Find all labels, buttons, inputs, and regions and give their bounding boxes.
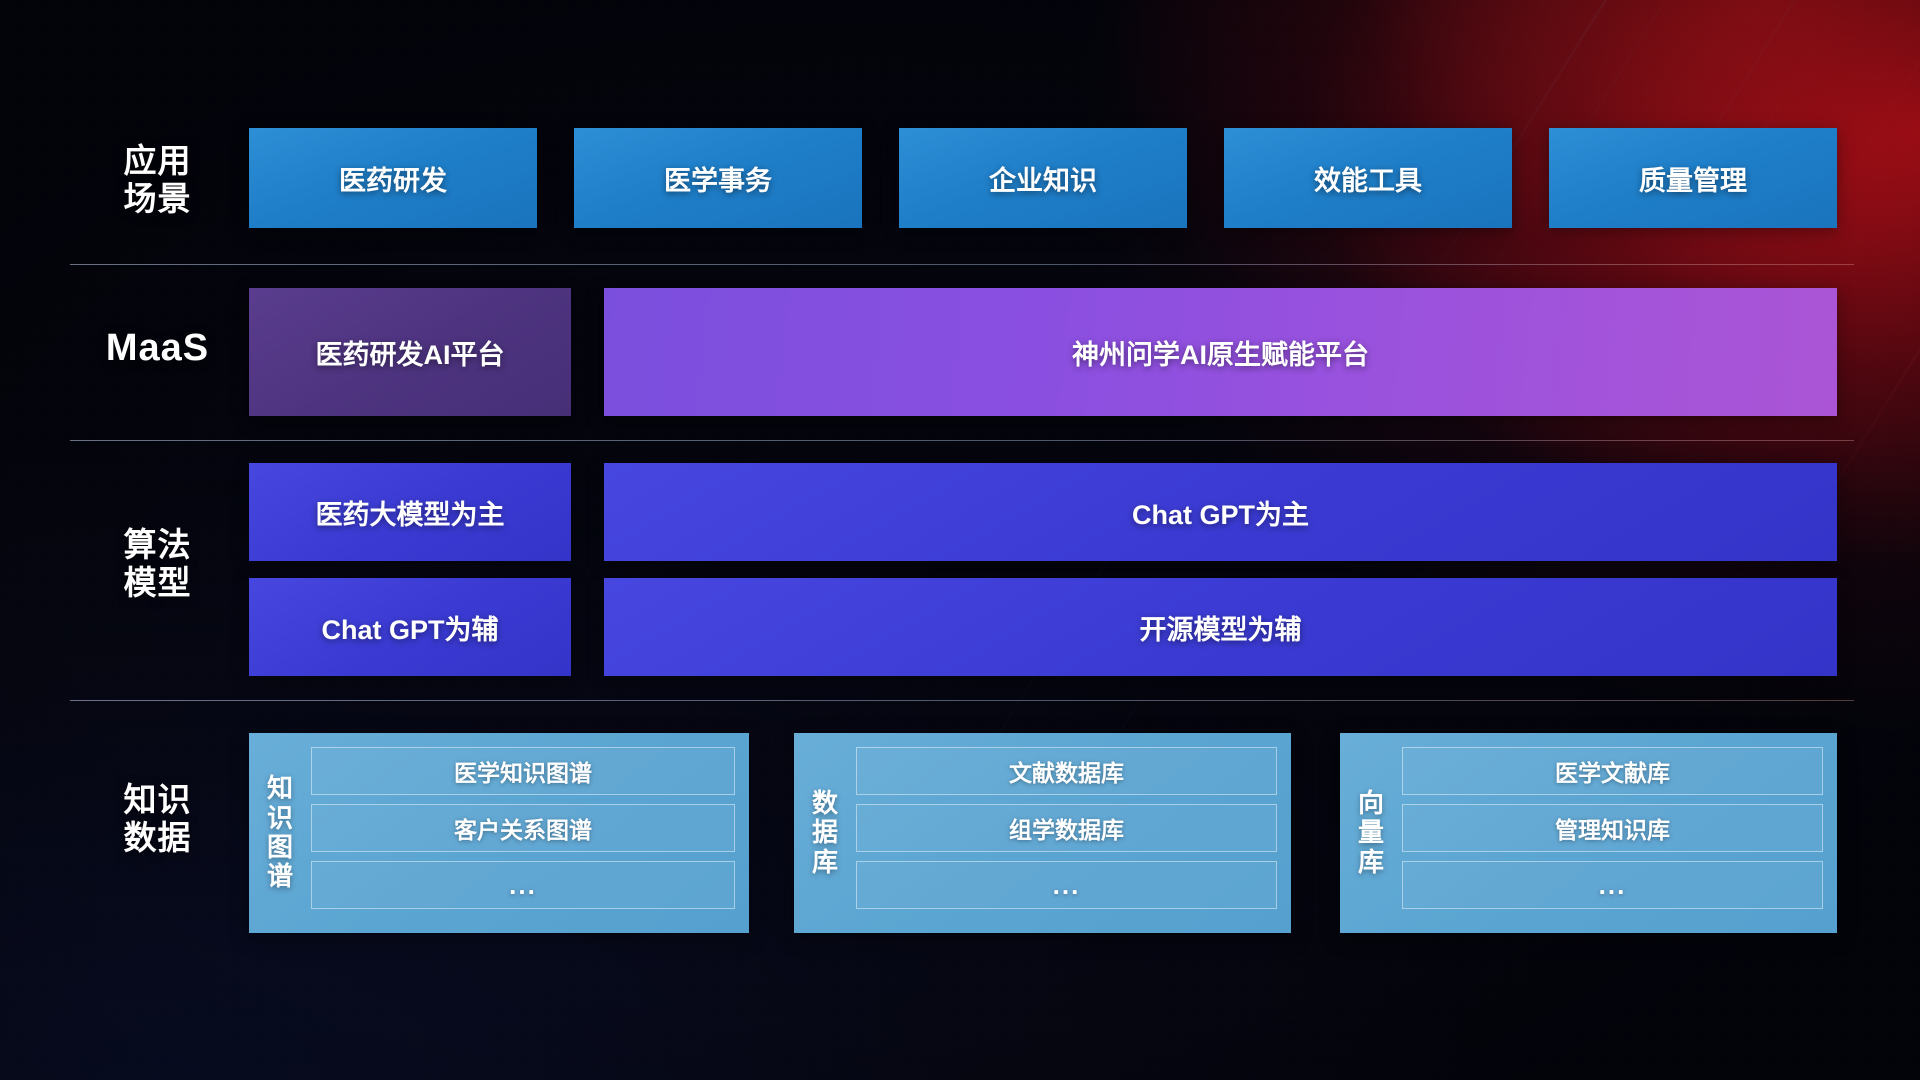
vlabel-char: 库	[812, 848, 838, 877]
row-label-line: 应用	[70, 142, 245, 180]
knowledge-panel-database[interactable]: 数据库 文献数据库 组学数据库 ...	[794, 733, 1291, 933]
knowledge-item-1-2[interactable]: ...	[856, 861, 1277, 909]
row-label-application-scenarios: 应用场景	[70, 142, 245, 219]
maas-card-platform-shenzhou[interactable]: 神州问学AI原生赋能平台	[604, 288, 1837, 416]
knowledge-panel-graph[interactable]: 知识图谱 医学知识图谱 客户关系图谱 ...	[249, 733, 749, 933]
app-card-0[interactable]: 医药研发	[249, 128, 537, 228]
app-card-label-4: 质量管理	[1639, 159, 1747, 198]
algo-card-label-1: Chat GPT为主	[1132, 493, 1309, 532]
row-label-line: 数据	[70, 819, 245, 857]
knowledge-item-2-2[interactable]: ...	[1402, 861, 1823, 909]
row-label-knowledge-data: 知识数据	[70, 781, 245, 858]
row-label-line: 场景	[70, 180, 245, 218]
algo-card-label-3: 开源模型为辅	[1140, 608, 1302, 647]
vlabel-char: 据	[812, 818, 838, 847]
app-card-3[interactable]: 效能工具	[1224, 128, 1512, 228]
vlabel-char: 谱	[267, 862, 293, 891]
knowledge-panel-items-1: 文献数据库 组学数据库 ...	[856, 733, 1291, 923]
knowledge-panel-vector[interactable]: 向量库 医学文献库 管理知识库 ...	[1340, 733, 1837, 933]
knowledge-item-2-0[interactable]: 医学文献库	[1402, 747, 1823, 795]
algo-card-chatgpt-primary[interactable]: Chat GPT为主	[604, 463, 1837, 561]
row-label-algorithm-models: 算法模型	[70, 526, 245, 603]
divider-1	[70, 264, 1854, 265]
knowledge-item-1-1[interactable]: 组学数据库	[856, 804, 1277, 852]
algo-card-pharma-primary[interactable]: 医药大模型为主	[249, 463, 571, 561]
row-label-line: 模型	[70, 564, 245, 602]
maas-card-label-0: 医药研发AI平台	[316, 333, 505, 372]
knowledge-item-1-0[interactable]: 文献数据库	[856, 747, 1277, 795]
knowledge-panel-items-0: 医学知识图谱 客户关系图谱 ...	[311, 733, 749, 923]
architecture-diagram: 应用场景 医药研发 医学事务 企业知识 效能工具 质量管理 MaaS 医药研发A…	[0, 0, 1920, 1080]
app-card-label-0: 医药研发	[339, 159, 447, 198]
knowledge-panel-vlabel-2: 向量库	[1340, 733, 1402, 933]
algo-card-label-0: 医药大模型为主	[316, 493, 505, 532]
row-label-line: MaaS	[70, 326, 245, 370]
vlabel-char: 识	[267, 804, 293, 833]
maas-card-label-1: 神州问学AI原生赋能平台	[1072, 333, 1369, 372]
knowledge-panel-vlabel-1: 数据库	[794, 733, 856, 933]
maas-card-platform-pharma[interactable]: 医药研发AI平台	[249, 288, 571, 416]
vlabel-char: 图	[267, 833, 293, 862]
app-card-label-1: 医学事务	[664, 159, 772, 198]
vlabel-char: 知	[267, 774, 293, 803]
app-card-label-2: 企业知识	[989, 159, 1097, 198]
divider-2	[70, 440, 1854, 441]
row-label-maas: MaaS	[70, 326, 245, 370]
knowledge-panel-items-2: 医学文献库 管理知识库 ...	[1402, 733, 1837, 923]
row-label-line: 知识	[70, 781, 245, 819]
knowledge-panel-vlabel-0: 知识图谱	[249, 733, 311, 933]
algo-card-opensource-secondary[interactable]: 开源模型为辅	[604, 578, 1837, 676]
app-card-1[interactable]: 医学事务	[574, 128, 862, 228]
vlabel-char: 量	[1358, 818, 1384, 847]
vlabel-char: 向	[1358, 789, 1384, 818]
vlabel-char: 数	[812, 789, 838, 818]
algo-card-chatgpt-secondary[interactable]: Chat GPT为辅	[249, 578, 571, 676]
app-card-2[interactable]: 企业知识	[899, 128, 1187, 228]
vlabel-char: 库	[1358, 848, 1384, 877]
divider-3	[70, 700, 1854, 701]
knowledge-item-0-0[interactable]: 医学知识图谱	[311, 747, 735, 795]
algo-card-label-2: Chat GPT为辅	[321, 608, 498, 647]
knowledge-item-0-1[interactable]: 客户关系图谱	[311, 804, 735, 852]
knowledge-item-2-1[interactable]: 管理知识库	[1402, 804, 1823, 852]
knowledge-item-0-2[interactable]: ...	[311, 861, 735, 909]
row-label-line: 算法	[70, 526, 245, 564]
app-card-4[interactable]: 质量管理	[1549, 128, 1837, 228]
app-card-label-3: 效能工具	[1314, 159, 1422, 198]
